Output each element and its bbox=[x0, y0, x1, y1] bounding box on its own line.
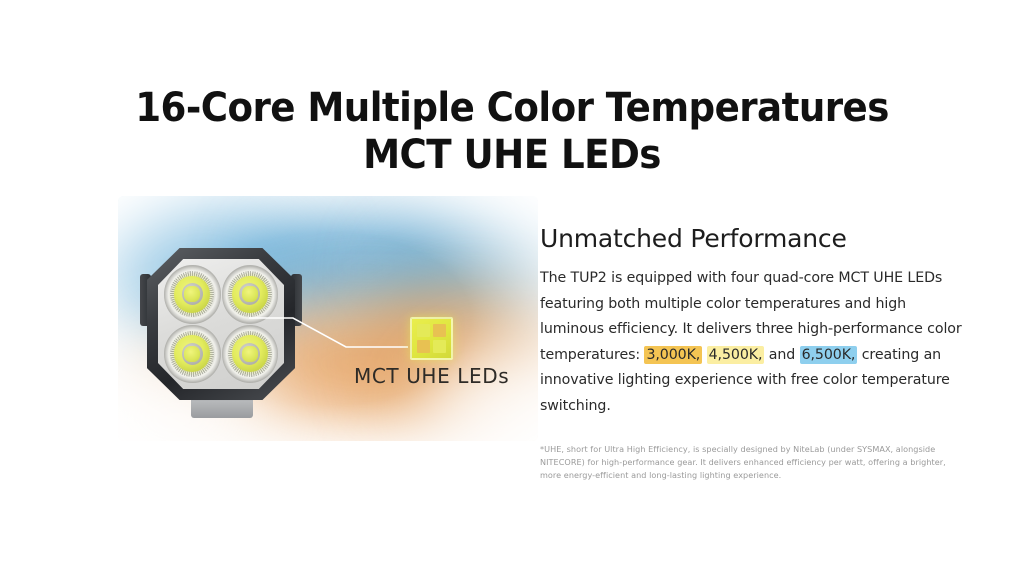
module-bezel bbox=[147, 248, 295, 400]
page-title-line-2: MCT UHE LEDs bbox=[36, 132, 988, 179]
led-die bbox=[184, 286, 200, 302]
quad-core-led-module bbox=[147, 248, 295, 400]
paragraph-separator-2: and bbox=[764, 347, 799, 363]
led-emitter bbox=[164, 265, 221, 324]
led-emitter bbox=[222, 265, 279, 324]
led-emitter bbox=[164, 325, 221, 384]
led-die bbox=[242, 346, 258, 362]
product-visual: MCT UHE LEDs bbox=[118, 196, 538, 441]
module-reflector-face bbox=[158, 259, 284, 389]
chip-pad bbox=[433, 324, 446, 337]
color-temperature-6500k: 6,500K, bbox=[800, 346, 858, 364]
chip-pad bbox=[417, 340, 430, 353]
footnote-text: *UHE, short for Ultra High Efficiency, i… bbox=[540, 443, 964, 483]
visual-caption: MCT UHE LEDs bbox=[354, 364, 509, 388]
chip-pad bbox=[433, 340, 446, 353]
led-grid bbox=[164, 265, 278, 383]
mct-uhe-led-chip bbox=[410, 317, 453, 360]
description-paragraph: The TUP2 is equipped with four quad-core… bbox=[540, 266, 964, 419]
color-temperature-3000k: 3,000K, bbox=[644, 346, 702, 364]
led-emitter bbox=[222, 325, 279, 384]
page-title-line-1: 16-Core Multiple Color Temperatures bbox=[36, 85, 988, 132]
paragraph-separator-1 bbox=[702, 347, 706, 363]
color-temperature-4500k: 4,500K, bbox=[707, 346, 765, 364]
led-die bbox=[184, 346, 200, 362]
section-subheading: Unmatched Performance bbox=[540, 224, 964, 254]
description-column: Unmatched Performance The TUP2 is equipp… bbox=[540, 224, 964, 491]
led-die bbox=[242, 286, 258, 302]
product-feature-slide: 16-Core Multiple Color Temperatures MCT … bbox=[0, 0, 1024, 576]
chip-pad bbox=[417, 324, 430, 337]
page-title: 16-Core Multiple Color Temperatures MCT … bbox=[36, 85, 988, 179]
